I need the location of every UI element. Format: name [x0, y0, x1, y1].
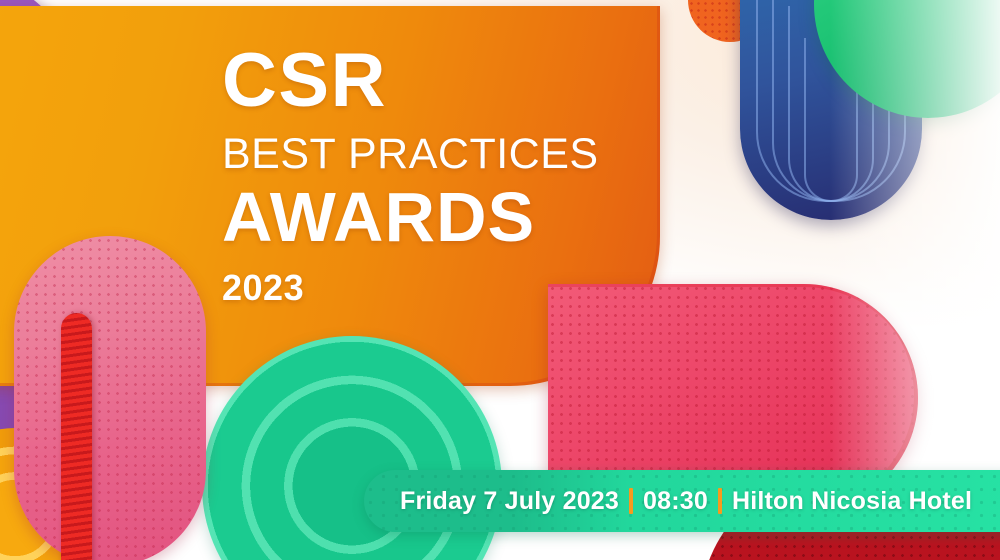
event-details-banner: Friday 7 July 2023 08:30 Hilton Nicosia … [364, 470, 1000, 532]
title-line-awards: AWARDS [222, 183, 599, 252]
event-time: 08:30 [643, 487, 708, 516]
title-line-csr: CSR [222, 46, 599, 116]
poster-canvas: CSR BEST PRACTICES AWARDS 2023 Friday 7 … [0, 0, 1000, 560]
event-venue: Hilton Nicosia Hotel [732, 487, 972, 516]
headline-block: CSR BEST PRACTICES AWARDS 2023 [222, 46, 599, 306]
separator-bar-2 [718, 488, 722, 514]
pink-dotted-pill-shape [14, 236, 206, 560]
red-striped-blade-shape [61, 313, 92, 560]
event-date: Friday 7 July 2023 [400, 487, 619, 516]
separator-bar-1 [629, 488, 633, 514]
title-line-best-practices: BEST PRACTICES [222, 132, 599, 177]
event-details-text: Friday 7 July 2023 08:30 Hilton Nicosia … [400, 487, 972, 516]
title-year: 2023 [222, 270, 599, 306]
